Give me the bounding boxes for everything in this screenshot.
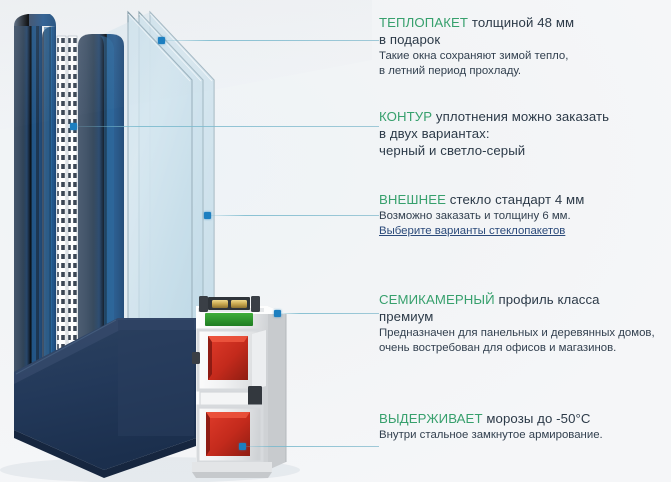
callout-kontur: КОНТУР уплотнения можно заказать в двух …	[379, 108, 669, 160]
callout-keyword: ВЫДЕРЖИВАЕТ	[379, 411, 483, 426]
callout-heading-rest: профиль класса	[495, 292, 600, 307]
pvc-profile-section	[192, 296, 286, 478]
callout-heading: ВНЕШНЕЕ стекло стандарт 4 мм	[379, 191, 669, 208]
leader-line-5	[243, 446, 379, 447]
callout-heading-rest: морозы до -50°C	[483, 411, 591, 426]
leader-line-2	[74, 126, 379, 127]
callout-heading-line3: черный и светло-серый	[379, 143, 525, 158]
callout-vyderzhivaet-morozy: ВЫДЕРЖИВАЕТ морозы до -50°C Внутри сталь…	[379, 410, 669, 443]
callout-heading-line2: в подарок	[379, 32, 440, 47]
callout-teplopaket: ТЕПЛОПАКЕТ толщиной 48 мм в подарок Таки…	[379, 14, 669, 78]
glazing-options-link[interactable]: Выберите варианты стеклопакетов	[379, 224, 565, 239]
callout-body: Такие окна сохраняют зимой тепло, в летн…	[379, 49, 669, 78]
callout-keyword: ТЕПЛОПАКЕТ	[379, 15, 468, 30]
leader-dot-2	[70, 123, 77, 130]
leader-dot-5	[239, 443, 246, 450]
callout-body: Внутри стальное замкнутое армирование.	[379, 428, 669, 443]
callout-body-line: Внутри стальное замкнутое армирование.	[379, 428, 669, 443]
callout-heading: ВЫДЕРЖИВАЕТ морозы до -50°C	[379, 410, 669, 427]
leader-line-3	[208, 215, 379, 216]
callout-body-line: Возможно заказать и толщину 6 мм.	[379, 209, 669, 224]
callout-body-line: в летний период прохладу.	[379, 64, 669, 79]
callout-body: Предназначен для панельных и деревянных …	[379, 326, 669, 355]
callout-vneshnee-steklo: ВНЕШНЕЕ стекло стандарт 4 мм Возможно за…	[379, 191, 669, 238]
callout-body-line: Такие окна сохраняют зимой тепло,	[379, 49, 669, 64]
callout-heading-line2: в двух вариантах:	[379, 126, 490, 141]
callout-heading-line2: премиум	[379, 309, 433, 324]
callout-heading: ТЕПЛОПАКЕТ толщиной 48 мм в подарок	[379, 14, 669, 48]
callout-heading-rest: стекло стандарт 4 мм	[446, 192, 584, 207]
callout-body-line: очень востребован для офисов и магазинов…	[379, 341, 669, 356]
leader-line-4	[278, 313, 379, 314]
callout-keyword: ВНЕШНЕЕ	[379, 192, 446, 207]
callout-heading: КОНТУР уплотнения можно заказать в двух …	[379, 108, 669, 159]
callout-keyword: СЕМИКАМЕРНЫЙ	[379, 292, 495, 307]
callout-heading-rest: уплотнения можно заказать	[432, 109, 609, 124]
leader-dot-1	[158, 37, 165, 44]
callout-semikamerny-profil: СЕМИКАМЕРНЫЙ профиль класса премиум Пред…	[379, 291, 669, 355]
callout-keyword: КОНТУР	[379, 109, 432, 124]
leader-line-1	[162, 40, 379, 41]
leader-dot-3	[204, 212, 211, 219]
callout-heading: СЕМИКАМЕРНЫЙ профиль класса премиум	[379, 291, 669, 325]
window-profile-illustration	[0, 0, 372, 482]
infographic-canvas: ТЕПЛОПАКЕТ толщиной 48 мм в подарок Таки…	[0, 0, 671, 482]
callout-body: Возможно заказать и толщину 6 мм. Выбери…	[379, 209, 669, 238]
callout-heading-rest: толщиной 48 мм	[468, 15, 574, 30]
callout-body-line: Предназначен для панельных и деревянных …	[379, 326, 669, 341]
leader-dot-4	[274, 310, 281, 317]
